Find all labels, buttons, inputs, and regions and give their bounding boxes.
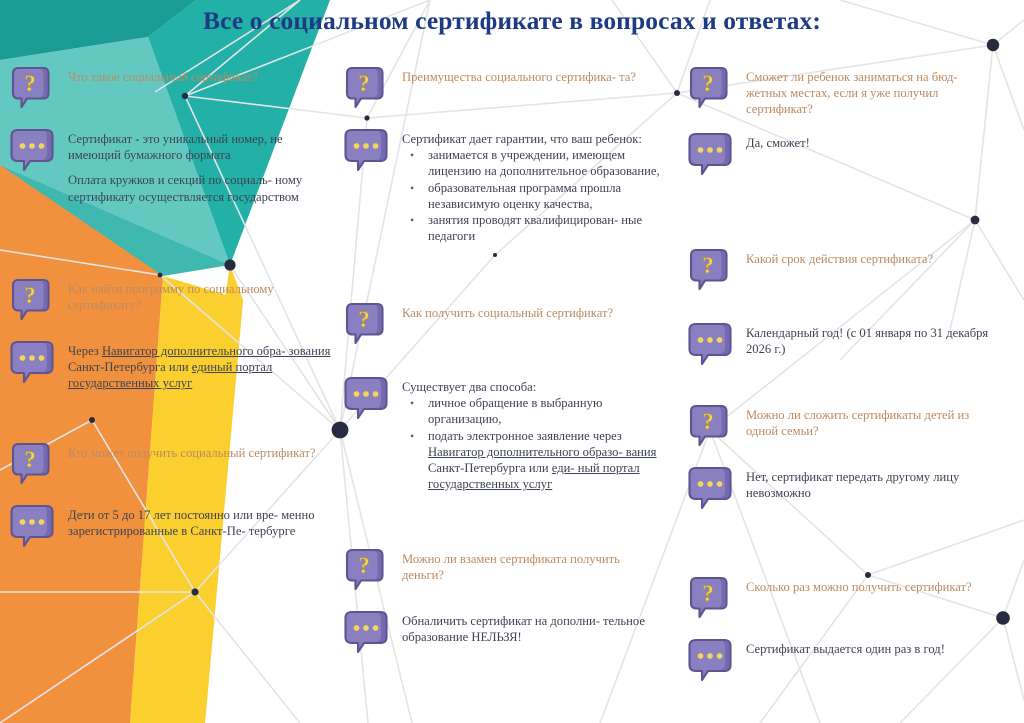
qa-block-validity-period: ? Какой срок действия сертификата? Кален… [688,248,1000,370]
question-bubble-icon: ? [688,248,734,296]
svg-text:?: ? [24,71,36,96]
answer-text: Через Навигатор дополнительного обра- зо… [68,340,332,392]
question-bubble-icon: ? [344,548,390,596]
answer-text: Сертификат - это уникальный номер, не им… [68,128,332,205]
list-item: личное обращение в выбранную организацию… [402,395,664,427]
network-node [224,259,235,270]
answer-text: Нет, сертификат передать другому лицу не… [746,466,1000,501]
question-row: ? Кто может получить социальный сертифик… [10,442,332,490]
question-row: ? Можно ли взамен сертификата получить д… [344,548,664,596]
svg-text:?: ? [24,447,36,472]
answer-bubble-icon [10,504,56,552]
answer-lead: Существует два способа: [402,379,664,395]
question-text: Что такое социальный сертификат? [68,66,332,85]
list-item-with-links: подать электронное заявление через Навиг… [402,428,664,493]
answer-bubble-icon [688,322,734,370]
answer-list: занимается в учреждении, имеющем лицензи… [402,147,664,244]
answer-row: Сертификат - это уникальный номер, не им… [10,128,332,205]
answer-bubble-icon [688,638,734,686]
question-bubble-icon: ? [688,66,734,114]
network-node [987,39,999,51]
network-node [674,90,680,96]
answer-bubble-icon [688,466,734,514]
network-node [493,253,497,257]
question-text: Преимущества социального сертифика- та? [402,66,664,85]
qa-block-money-instead: ? Можно ли взамен сертификата получить д… [344,548,664,658]
qa-block-combine-certificates: ? Можно ли сложить сертификаты детей из … [688,404,1000,514]
question-row: ? Преимущества социального сертифика- та… [344,66,664,114]
infographic-page: Все о социальном сертификате в вопросах … [0,0,1024,723]
answer-bubble-icon [10,340,56,388]
list-item: занятия проводят квалифицирован- ные пед… [402,212,664,244]
list-item: образовательная программа прошла независ… [402,180,664,212]
svg-text:?: ? [702,71,714,96]
svg-text:?: ? [24,283,36,308]
svg-text:?: ? [702,409,714,434]
answer-text: Существует два способа: личное обращение… [402,376,664,492]
question-row: ? Как найти программу по социальному сер… [10,278,332,326]
answer-text: Обналичить сертификат на дополни- тельно… [402,610,664,645]
answer-row: Дети от 5 до 17 лет постоянно или вре- м… [10,504,332,552]
qa-block-how-to-get: ? Как получить социальный сертификат? Су… [344,302,664,492]
answer-bubble-icon [344,128,390,176]
question-text: Сколько раз можно получить сертификат? [746,576,1000,595]
answer-bubble-icon [688,132,734,180]
answer-paragraph: Оплата кружков и секций по социаль- ному… [68,172,332,204]
question-text: Можно ли сложить сертификаты детей из од… [746,404,1000,439]
qa-block-who-can-get: ? Кто может получить социальный сертифик… [10,442,332,552]
svg-text:?: ? [358,307,370,332]
question-row: ? Что такое социальный сертификат? [10,66,332,114]
question-row: ? Можно ли сложить сертификаты детей из … [688,404,1000,452]
answer-row: Сертификат дает гарантии, что ваш ребено… [344,128,664,244]
answer-prefix: Через [68,344,102,358]
question-bubble-icon: ? [10,278,56,326]
item-middle: Санкт-Петербурга или [428,461,552,475]
answer-row: Да, сможет! [688,132,1000,180]
spacer [68,163,332,172]
question-text: Кто может получить социальный сертификат… [68,442,332,461]
answer-row: Обналичить сертификат на дополни- тельно… [344,610,664,658]
question-bubble-icon: ? [10,66,56,114]
network-node [158,273,163,278]
answer-row: Нет, сертификат передать другому лицу не… [688,466,1000,514]
question-text: Можно ли взамен сертификата получить ден… [402,548,664,583]
answer-bubble-icon [344,610,390,658]
question-row: ? Сможет ли ребенок заниматься на бюд- ж… [688,66,1000,118]
answer-bubble-icon [344,376,390,424]
answer-row: Сертификат выдается один раз в год! [688,638,1000,686]
question-text: Какой срок действия сертификата? [746,248,1000,267]
answer-lead: Сертификат дает гарантии, что ваш ребено… [402,131,664,147]
qa-block-how-to-find-program: ? Как найти программу по социальному сер… [10,278,332,392]
item-prefix: подать электронное заявление через [428,429,622,443]
svg-text:?: ? [702,253,714,278]
question-bubble-icon: ? [688,576,734,624]
qa-block-budget-places: ? Сможет ли ребенок заниматься на бюд- ж… [688,66,1000,180]
qa-block-what-is-certificate: ? Что такое социальный сертификат? Серти… [10,66,332,205]
network-node [89,417,95,423]
answer-text: Сертификат выдается один раз в год! [746,638,1000,657]
answer-link-navigator[interactable]: Навигатор дополнительного обра- зования [102,344,330,358]
question-text: Как получить социальный сертификат? [402,302,664,321]
page-title: Все о социальном сертификате в вопросах … [0,6,1024,36]
question-bubble-icon: ? [688,404,734,452]
answer-link-navigator[interactable]: Навигатор дополнительного образо- вания [428,445,656,459]
answer-bubble-icon [10,128,56,176]
answer-text: Сертификат дает гарантии, что ваш ребено… [402,128,664,244]
question-row: ? Как получить социальный сертификат? [344,302,664,350]
question-text: Сможет ли ребенок заниматься на бюд- жет… [746,66,1000,118]
answer-row: Через Навигатор дополнительного обра- зо… [10,340,332,392]
qa-block-advantages: ? Преимущества социального сертифика- та… [344,66,664,244]
question-bubble-icon: ? [344,302,390,350]
network-node [971,216,980,225]
svg-text:?: ? [358,71,370,96]
answer-text: Дети от 5 до 17 лет постоянно или вре- м… [68,504,332,539]
question-row: ? Сколько раз можно получить сертификат? [688,576,1000,624]
question-bubble-icon: ? [344,66,390,114]
question-bubble-icon: ? [10,442,56,490]
network-node [191,588,198,595]
answer-row: Существует два способа: личное обращение… [344,376,664,492]
question-row: ? Какой срок действия сертификата? [688,248,1000,296]
list-item: занимается в учреждении, имеющем лицензи… [402,147,664,179]
answer-row: Календарный год! (с 01 января по 31 дека… [688,322,1000,370]
answer-list: личное обращение в выбранную организацию… [402,395,664,492]
answer-text: Календарный год! (с 01 января по 31 дека… [746,322,1000,357]
svg-text:?: ? [702,581,714,606]
qa-block-how-many-times: ? Сколько раз можно получить сертификат?… [688,576,1000,686]
answer-paragraph: Сертификат - это уникальный номер, не им… [68,131,332,163]
answer-text: Да, сможет! [746,132,1000,151]
question-text: Как найти программу по социальному серти… [68,278,332,313]
svg-text:?: ? [358,553,370,578]
answer-middle: Санкт-Петербурга или [68,360,192,374]
